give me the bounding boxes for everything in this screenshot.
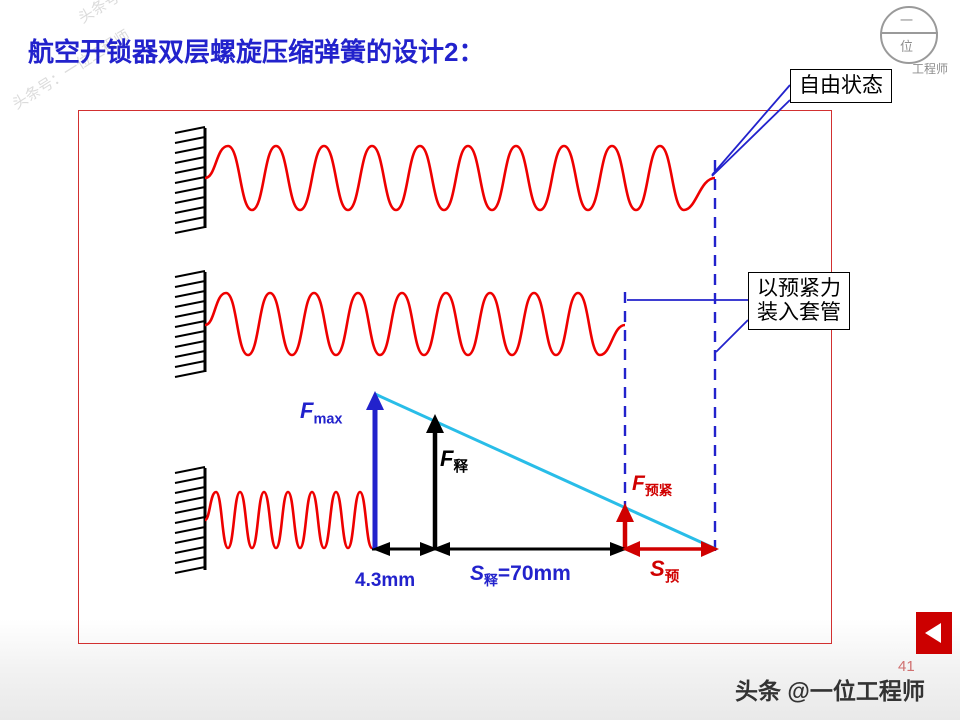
dim-arrow-s-shi [432,542,628,556]
previous-slide-button[interactable] [916,612,952,654]
dim-arrow-43mm [372,542,438,556]
label-dim-s-shi-sub: 释 [484,572,498,588]
label-force-fyujin: F预紧 [632,472,673,499]
label-dim-s-yu-symbol: S [650,556,665,581]
label-dim-43mm: 4.3mm [355,570,415,592]
spring-preloaded [205,293,625,355]
label-force-fyujin-symbol: F [632,472,645,495]
label-dim-s-shi-value: =70mm [498,562,571,585]
force-fmax-arrow [366,391,384,549]
callout-preload-install: 以预紧力 装入套管 [748,272,850,330]
spring-free [205,146,715,210]
label-dim-s-shi-symbol: S [470,562,484,585]
label-dim-s-yu: S预 [650,556,679,586]
diagram-canvas [0,0,960,720]
label-force-fmax-symbol: F [300,398,313,423]
label-force-fmax-sub: max [313,411,342,427]
label-dim-s-shi: S释=70mm [470,562,571,589]
wall-support-preloaded [175,271,205,377]
triangle-left-icon [925,623,941,643]
label-force-fmax: Fmax [300,398,343,427]
leader-free-state [712,85,790,176]
footer-brand: 头条 @一位工程师 [735,672,925,706]
force-fshi-arrow [426,414,444,549]
label-force-fshi-symbol: F [440,446,453,471]
callout-preload-line1: 以预紧力 [757,277,841,301]
label-force-fyujin-sub: 预紧 [645,482,673,498]
callout-preload-line2: 装入套管 [757,301,841,325]
wall-support-free [175,127,205,233]
spring-compressed [205,492,372,548]
callout-free-state-line: 自由状态 [799,74,883,98]
wall-support-compressed [175,467,205,573]
label-force-fshi: F释 [440,446,468,476]
leader-preload [627,300,748,352]
callout-free-state: 自由状态 [790,69,892,103]
dim-arrow-s-yu [622,541,719,557]
label-dim-s-yu-sub: 预 [665,569,680,585]
label-force-fshi-sub: 释 [453,459,468,475]
